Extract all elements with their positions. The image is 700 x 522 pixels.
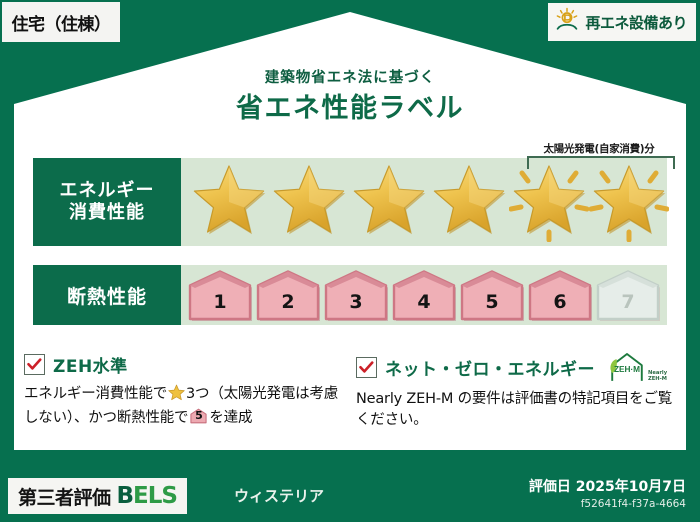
building-type-tag: 住宅（住棟） xyxy=(2,2,120,42)
bels-logo-els: ELS xyxy=(133,483,177,509)
building-type-label: 住宅（住棟） xyxy=(12,10,111,35)
insulation-level-achieved: 4 xyxy=(391,269,457,321)
insulation-level-achieved: 1 xyxy=(187,269,253,321)
star-rating-group xyxy=(181,158,667,246)
star-icon-filled xyxy=(349,163,429,241)
insulation-performance-label: 断熱性能 xyxy=(33,265,181,325)
zeh-standard-title: ZEH水準 xyxy=(53,352,128,377)
insulation-level-inline-badge: 5 xyxy=(190,408,207,424)
star-icon-filled xyxy=(429,163,509,241)
energy-label-line2: 消費性能 xyxy=(69,202,145,225)
footer-meta: 評価日 2025年10月7日 f52641f4-f37a-4664 xyxy=(529,476,686,510)
label-uid: f52641f4-f37a-4664 xyxy=(529,498,686,510)
insulation-level-number: 1 xyxy=(187,291,253,313)
energy-star-track: 太陽光発電(自家消費)分 xyxy=(181,158,667,246)
bels-logo: BELS xyxy=(117,483,177,509)
evaluation-date-value: 2025年10月7日 xyxy=(576,479,686,495)
energy-performance-label: エネルギー 消費性能 xyxy=(33,158,181,246)
energy-performance-row: エネルギー 消費性能 太陽光発電(自家消費)分 xyxy=(33,158,667,246)
net-zero-body: Nearly ZEH-M の要件は評価書の特記項目をご覧ください。 xyxy=(356,389,686,432)
insulation-level-achieved: 2 xyxy=(255,269,321,321)
insulation-level-number: 2 xyxy=(255,291,321,313)
zeh-body-part3: を達成 xyxy=(209,410,252,426)
zeh-m-logo-icon: ZEH·M Nearly ZEH-M xyxy=(607,352,667,382)
insulation-level-number: 7 xyxy=(595,291,661,313)
bels-footer-badge: 第三者評価 BELS xyxy=(8,478,187,514)
bels-logo-b: B xyxy=(117,483,134,509)
zeh-standard-section: ZEH水準 エネルギー消費性能で 3つ（太陽光発電は考慮しない）、かつ断熱性能で… xyxy=(24,352,346,430)
insulation-level-number: 5 xyxy=(459,291,525,313)
star-icon-solar xyxy=(589,163,669,241)
zeh-body-part1: エネルギー消費性能で xyxy=(24,386,167,402)
star-icon xyxy=(168,384,185,408)
renewable-equipment-badge: 再エネ設備あり xyxy=(548,3,696,41)
insulation-performance-row: 断熱性能 1 2 3 xyxy=(33,265,667,325)
zeh-m-sub-line2: ZEH-M xyxy=(648,377,667,382)
net-zero-header: ネット・ゼロ・エネルギー ZEH·M Nearly ZEH-M xyxy=(356,352,686,382)
insulation-label-text: 断熱性能 xyxy=(67,282,147,309)
label-subtitle: 建築物省エネ法に基づく xyxy=(0,66,700,87)
evaluation-date: 評価日 2025年10月7日 xyxy=(529,476,686,496)
star-icon-solar xyxy=(509,163,589,241)
energy-label-line1: エネルギー xyxy=(60,180,155,203)
zeh-standard-header: ZEH水準 xyxy=(24,352,346,377)
bels-energy-label: 住宅（住棟） 再エネ設備あり 建築物省エネ法に基づく 省エネ性能ラベル xyxy=(0,0,700,522)
evaluation-date-label: 評価日 xyxy=(529,479,571,495)
star-icon-filled xyxy=(189,163,269,241)
owner-name: ウィステリア xyxy=(234,485,324,506)
insulation-level-number: 3 xyxy=(323,291,389,313)
checkmark-icon xyxy=(24,354,45,375)
zeh-standard-body: エネルギー消費性能で 3つ（太陽光発電は考慮しない）、かつ断熱性能で 5 を達成 xyxy=(24,384,346,430)
insulation-level-achieved: 6 xyxy=(527,269,593,321)
label-main-title: 省エネ性能ラベル xyxy=(0,86,700,125)
insulation-level-track: 1 2 3 4 5 xyxy=(181,265,667,325)
insulation-level-inactive: 7 xyxy=(595,269,661,321)
insulation-level-number: 4 xyxy=(391,291,457,313)
svg-text:ZEH·M: ZEH·M xyxy=(614,365,640,374)
star-icon-filled xyxy=(269,163,349,241)
insulation-level-achieved: 5 xyxy=(459,269,525,321)
renewable-badge-label: 再エネ設備あり xyxy=(585,12,687,33)
solar-sun-icon xyxy=(554,7,580,37)
insulation-level-group: 1 2 3 4 5 xyxy=(181,265,667,325)
net-zero-title: ネット・ゼロ・エネルギー xyxy=(385,355,595,380)
insulation-level-number: 6 xyxy=(527,291,593,313)
checkmark-icon xyxy=(356,357,377,378)
solar-annotation-text: 太陽光発電(自家消費)分 xyxy=(525,141,673,156)
third-party-eval-label: 第三者評価 xyxy=(18,483,111,510)
net-zero-energy-section: ネット・ゼロ・エネルギー ZEH·M Nearly ZEH-M Nearly Z… xyxy=(356,352,686,432)
inline-badge-number: 5 xyxy=(190,408,207,424)
insulation-level-achieved: 3 xyxy=(323,269,389,321)
